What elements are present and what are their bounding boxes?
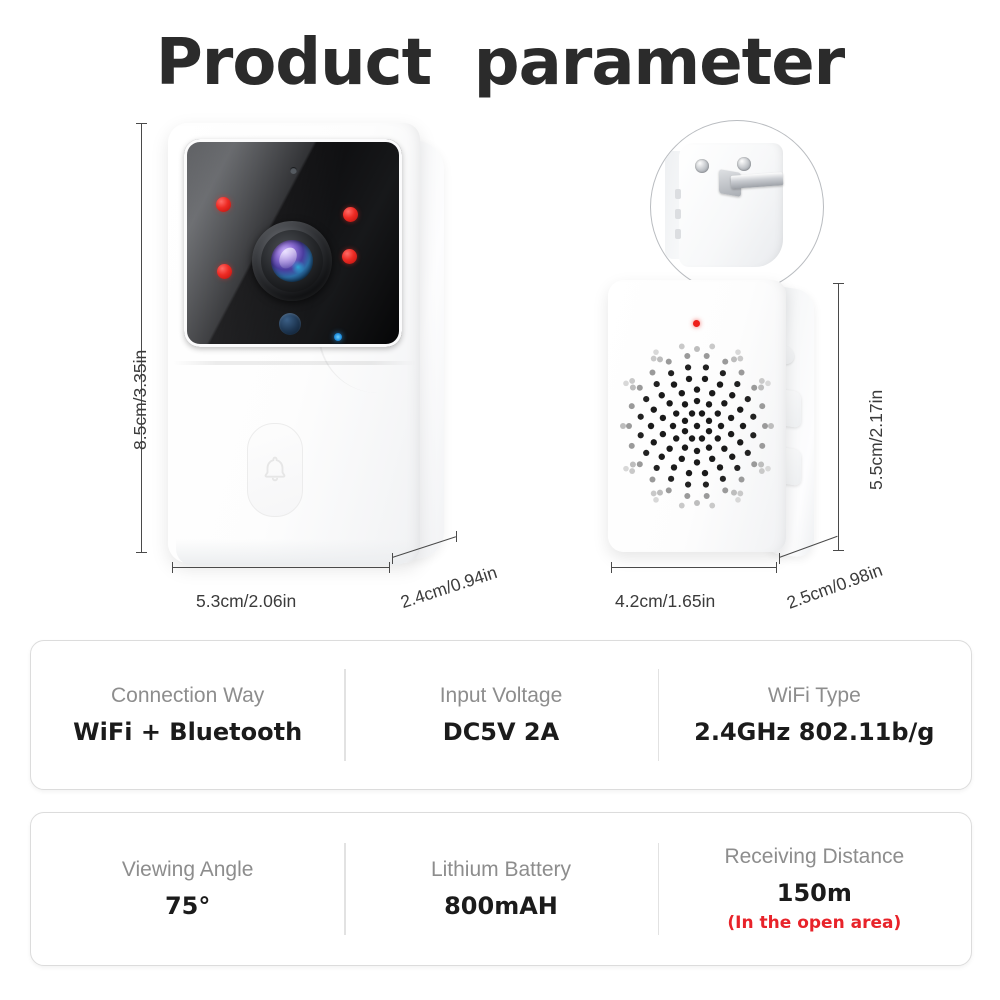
spec-label: Connection Way xyxy=(111,684,264,708)
spec-label: Receiving Distance xyxy=(724,845,904,869)
spec-cell-viewing-angle: Viewing Angle 75° xyxy=(31,858,344,920)
status-led-icon xyxy=(334,333,342,341)
light-sensor-icon xyxy=(279,313,301,335)
doorbell-height-cap-top xyxy=(136,123,147,124)
spec-cell-receiving-distance: Receiving Distance 150m (In the open are… xyxy=(658,845,971,933)
product-stage: 8.5cm/3.35in 5.3cm/2.06in 2.4cm/0.94in xyxy=(0,105,1000,625)
spec-cell-input-voltage: Input Voltage DC5V 2A xyxy=(344,684,657,746)
spec-value: 75° xyxy=(165,892,210,920)
spec-card-row-2: Viewing Angle 75° Lithium Battery 800mAH… xyxy=(30,812,972,966)
product-parameter-infographic: Product parameter xyxy=(0,0,1000,1000)
camera-lens-icon xyxy=(252,221,332,301)
chime-device xyxy=(608,280,838,570)
chime-width-line xyxy=(611,567,777,568)
spec-note: (In the open area) xyxy=(727,913,901,933)
spec-row: Viewing Angle 75° Lithium Battery 800mAH… xyxy=(31,813,971,965)
plug-vent-slot xyxy=(675,189,681,199)
spec-row: Connection Way WiFi + Bluetooth Input Vo… xyxy=(31,641,971,789)
spec-value: 800mAH xyxy=(444,892,558,920)
doorbell-width-cap-right xyxy=(389,562,390,573)
chime-width-cap-left xyxy=(611,562,612,573)
spec-label: Lithium Battery xyxy=(431,858,571,882)
doorbell-depth-cap-right xyxy=(456,531,457,542)
screw-icon xyxy=(695,159,709,173)
chime-width-cap-right xyxy=(776,562,777,573)
spec-cell-wifi-type: WiFi Type 2.4GHz 802.11b/g xyxy=(658,684,971,746)
doorbell-button[interactable] xyxy=(247,423,303,517)
plug-vent-slot xyxy=(675,229,681,239)
lens-glass xyxy=(271,240,313,282)
spec-value: WiFi + Bluetooth xyxy=(73,718,302,746)
doorbell-height-label: 8.5cm/3.35in xyxy=(130,350,151,450)
chime-height-cap-top xyxy=(833,283,844,284)
spec-label: Viewing Angle xyxy=(122,858,254,882)
ir-led-icon xyxy=(343,207,358,222)
chime-height-label: 5.5cm/2.17in xyxy=(866,390,887,490)
doorbell-depth-cap-left xyxy=(392,553,393,564)
doorbell-height-cap-bottom xyxy=(136,552,147,553)
chime-height-line xyxy=(838,283,839,551)
spec-label: WiFi Type xyxy=(768,684,861,708)
spec-value: 2.4GHz 802.11b/g xyxy=(694,718,934,746)
doorbell-width-label: 5.3cm/2.06in xyxy=(196,591,296,612)
ir-led-icon xyxy=(342,249,357,264)
doorbell-width-line xyxy=(172,567,390,568)
chime-body xyxy=(608,280,786,552)
plug-vent-slot xyxy=(675,209,681,219)
doorbell-front-panel xyxy=(184,139,402,347)
plug-detail-inset xyxy=(650,120,824,294)
bell-icon xyxy=(258,453,292,487)
screw-icon xyxy=(737,157,751,171)
page-title: Product parameter xyxy=(0,26,1000,100)
spec-label: Input Voltage xyxy=(440,684,563,708)
doorbell-device xyxy=(168,123,468,573)
spec-cell-connection-way: Connection Way WiFi + Bluetooth xyxy=(31,684,344,746)
speaker-grille-icon xyxy=(620,342,774,510)
chime-height-cap-bottom xyxy=(833,550,844,551)
spec-card-row-1: Connection Way WiFi + Bluetooth Input Vo… xyxy=(30,640,972,790)
chime-depth-cap-left xyxy=(779,553,780,564)
microphone-icon xyxy=(290,167,297,174)
plug-housing xyxy=(679,143,783,267)
chime-depth-cap-right xyxy=(838,531,839,542)
doorbell-width-cap-left xyxy=(172,562,173,573)
ir-led-icon xyxy=(217,264,232,279)
ir-led-icon xyxy=(216,197,231,212)
spec-value: 150m xyxy=(777,879,852,907)
doorbell-height-line xyxy=(141,123,142,553)
chime-status-led-icon xyxy=(693,320,700,327)
doorbell-body xyxy=(168,123,420,563)
chime-width-label: 4.2cm/1.65in xyxy=(615,591,715,612)
spec-value: DC5V 2A xyxy=(443,718,559,746)
spec-cell-lithium-battery: Lithium Battery 800mAH xyxy=(344,858,657,920)
